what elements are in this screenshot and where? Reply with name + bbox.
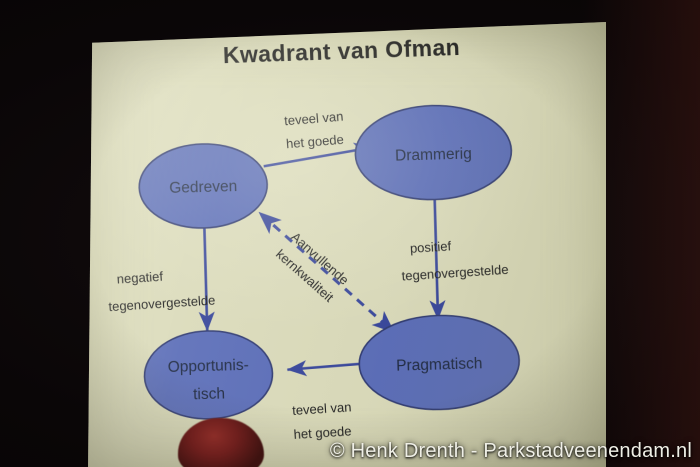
- node-pragmatisch-label: Pragmatisch: [396, 355, 483, 374]
- node-opportunistisch-label-line1: Opportunis-: [168, 357, 249, 376]
- slide-content: Kwadrant van Ofman: [82, 15, 612, 467]
- edge-label-right-line1: positief: [409, 238, 451, 256]
- node-opportunistisch[interactable]: Opportunis- tisch: [143, 329, 273, 421]
- node-drammerig-label: Drammerig: [395, 145, 472, 164]
- edge-label-top-line2: het goede: [285, 132, 344, 152]
- edge-label-bottom: teveel van het goede: [292, 399, 354, 442]
- node-gedreven[interactable]: Gedreven: [138, 142, 268, 230]
- node-drammerig[interactable]: Drammerig: [354, 103, 513, 201]
- edge-label-top-line1: teveel van: [284, 109, 344, 129]
- node-opportunistisch-label-line2: tisch: [193, 385, 225, 403]
- edge-label-top: teveel van het goede: [284, 109, 346, 152]
- node-pragmatisch[interactable]: Pragmatisch: [358, 313, 521, 411]
- edge-left-arrow: [204, 219, 207, 331]
- edge-label-right: positief tegenovergestelde: [399, 235, 508, 284]
- node-gedreven-label: Gedreven: [169, 178, 238, 197]
- copyright-watermark: © Henk Drenth - Parkstadveenendam.nl: [0, 440, 692, 463]
- slide-surface: Kwadrant van Ofman: [88, 22, 606, 467]
- screenshot-stage: Kwadrant van Ofman: [0, 0, 700, 467]
- edge-right-arrow: [435, 196, 438, 320]
- ofman-quadrant-diagram: Gedreven Drammerig Opportunis- tisch: [82, 15, 612, 467]
- edge-label-bottom-line1: teveel van: [292, 399, 352, 418]
- edge-label-left: negatief tegenovergestelde: [106, 265, 215, 314]
- edge-label-right-line2: tegenovergestelde: [401, 262, 509, 284]
- edge-label-left-line2: tegenovergestelde: [108, 292, 216, 314]
- projection-screen: Kwadrant van Ofman: [0, 0, 700, 467]
- edge-label-left-line1: negatief: [116, 269, 163, 287]
- edge-label-diagonal: Aanvullende kernkwaliteit: [273, 229, 352, 305]
